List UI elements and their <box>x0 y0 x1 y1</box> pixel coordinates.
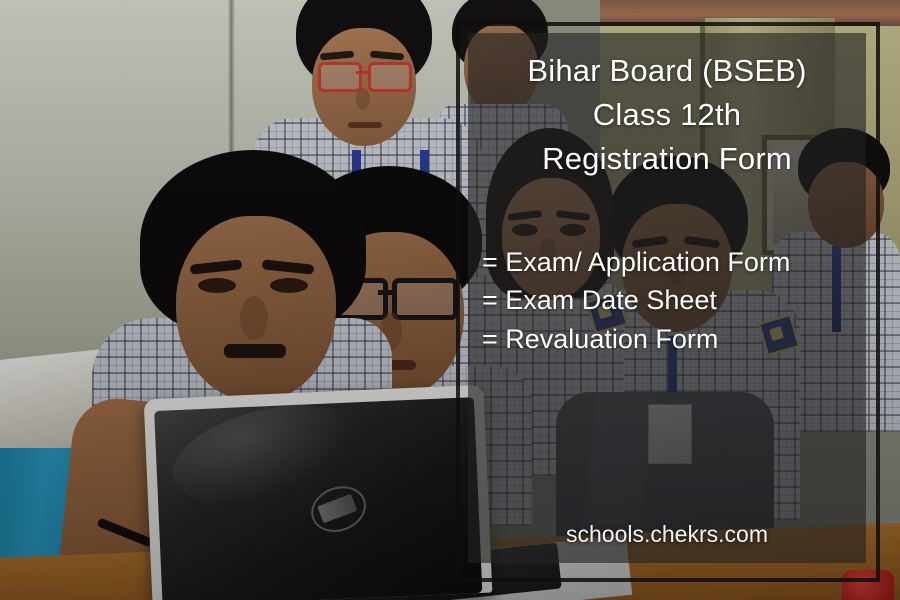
poster-image: Bihar Board (BSEB) Class 12th Registrati… <box>0 0 900 600</box>
dell-monitor <box>144 385 493 600</box>
mouth <box>348 122 382 128</box>
eyeglasses-bridge <box>356 71 368 74</box>
title-line-2: Class 12th <box>468 93 866 137</box>
eye <box>198 278 236 293</box>
poster-title: Bihar Board (BSEB) Class 12th Registrati… <box>468 49 866 181</box>
site-watermark: schools.chekrs.com <box>468 521 866 548</box>
eyeglasses-lens <box>392 278 458 320</box>
moustache <box>224 344 286 358</box>
title-line-3: Registration Form <box>468 137 866 181</box>
eyeglasses-lens <box>368 62 412 92</box>
red-object <box>842 570 894 600</box>
nose <box>356 88 370 110</box>
eye <box>270 278 308 293</box>
bullet-item-revaluation: = Revaluation Form <box>482 320 866 358</box>
nose <box>240 296 268 340</box>
bullet-item-date-sheet: = Exam Date Sheet <box>482 281 866 319</box>
poster-bullet-list: = Exam/ Application Form = Exam Date She… <box>468 243 866 358</box>
title-line-1: Bihar Board (BSEB) <box>468 49 866 93</box>
bullet-item-exam-application: = Exam/ Application Form <box>482 243 866 281</box>
text-overlay-panel: Bihar Board (BSEB) Class 12th Registrati… <box>468 33 866 563</box>
eyeglasses-bridge <box>378 290 392 295</box>
eyeglasses-lens <box>318 62 362 92</box>
